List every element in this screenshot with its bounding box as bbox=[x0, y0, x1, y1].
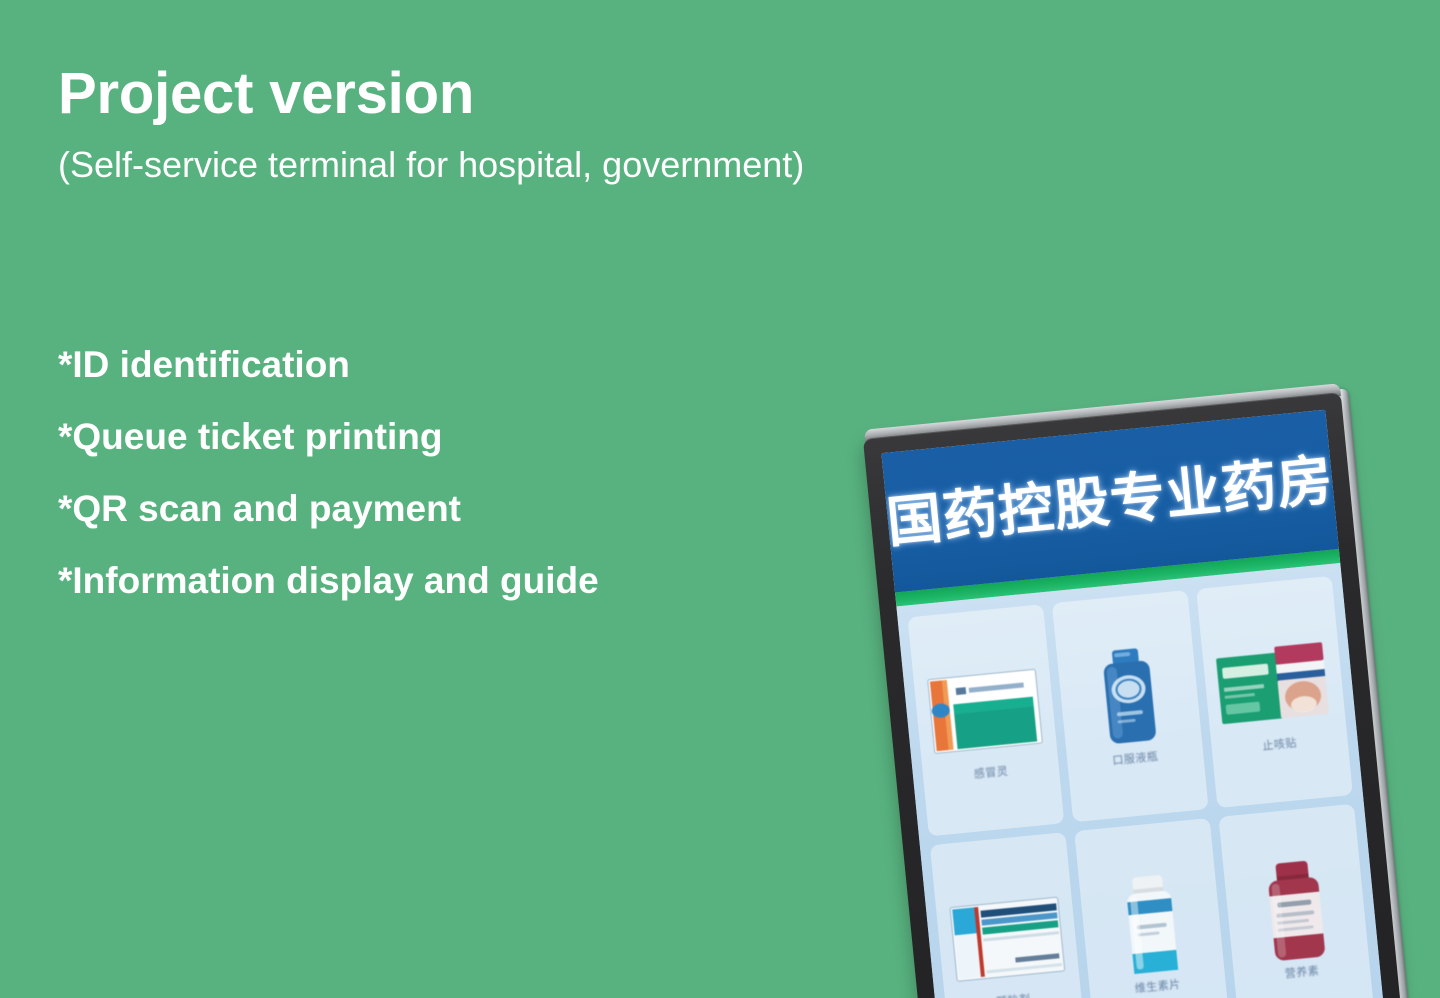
product-tile[interactable]: 感冒灵 bbox=[908, 604, 1065, 836]
list-item: *Queue ticket printing bbox=[58, 418, 878, 455]
product-grid: 感冒灵 bbox=[908, 576, 1376, 998]
pharmacy-name-text: 国药控股专业药房 bbox=[885, 452, 1336, 550]
product-image-box-teal bbox=[925, 658, 1046, 764]
page-title: Project version bbox=[58, 64, 878, 125]
presentation-slide: Project version (Self-service terminal f… bbox=[0, 0, 1440, 998]
feature-list: *ID identification *Queue ticket printin… bbox=[58, 346, 878, 634]
product-tile[interactable]: 口服液瓶 bbox=[1052, 590, 1209, 822]
slide-text-block: Project version (Self-service terminal f… bbox=[58, 64, 878, 186]
product-image-bottle-white-blue bbox=[1116, 874, 1187, 976]
product-tile[interactable]: 止咳贴 bbox=[1196, 576, 1353, 808]
list-item: *Information display and guide bbox=[58, 562, 878, 599]
product-tile[interactable]: 营养素 bbox=[1218, 804, 1375, 998]
product-image-bottle-blue bbox=[1094, 646, 1165, 748]
kiosk-screen[interactable]: 国药控股专业药房 bbox=[881, 410, 1385, 998]
kiosk-bezel: 国药控股专业药房 bbox=[863, 392, 1402, 998]
product-tile[interactable]: 维生素片 bbox=[1074, 818, 1231, 998]
self-service-kiosk: 国药控股专业药房 bbox=[862, 382, 1414, 998]
list-item: *QR scan and payment bbox=[58, 490, 878, 527]
product-label: 口服液瓶 bbox=[1112, 750, 1159, 765]
product-image-box-blue bbox=[947, 886, 1068, 992]
product-image-box-green-jar bbox=[1213, 629, 1334, 735]
product-label: 营养素 bbox=[1284, 964, 1319, 978]
product-grid-area: 感冒灵 bbox=[896, 563, 1385, 998]
product-tile[interactable]: 颗粒剂 bbox=[930, 832, 1087, 998]
product-label: 止咳贴 bbox=[1262, 737, 1297, 751]
product-label: 颗粒剂 bbox=[996, 993, 1031, 998]
product-image-bottle-red bbox=[1258, 859, 1333, 961]
slide-subtitle: (Self-service terminal for hospital, gov… bbox=[58, 143, 878, 186]
list-item: *ID identification bbox=[58, 346, 878, 383]
product-label: 感冒灵 bbox=[973, 765, 1008, 779]
product-label: 维生素片 bbox=[1134, 978, 1181, 993]
